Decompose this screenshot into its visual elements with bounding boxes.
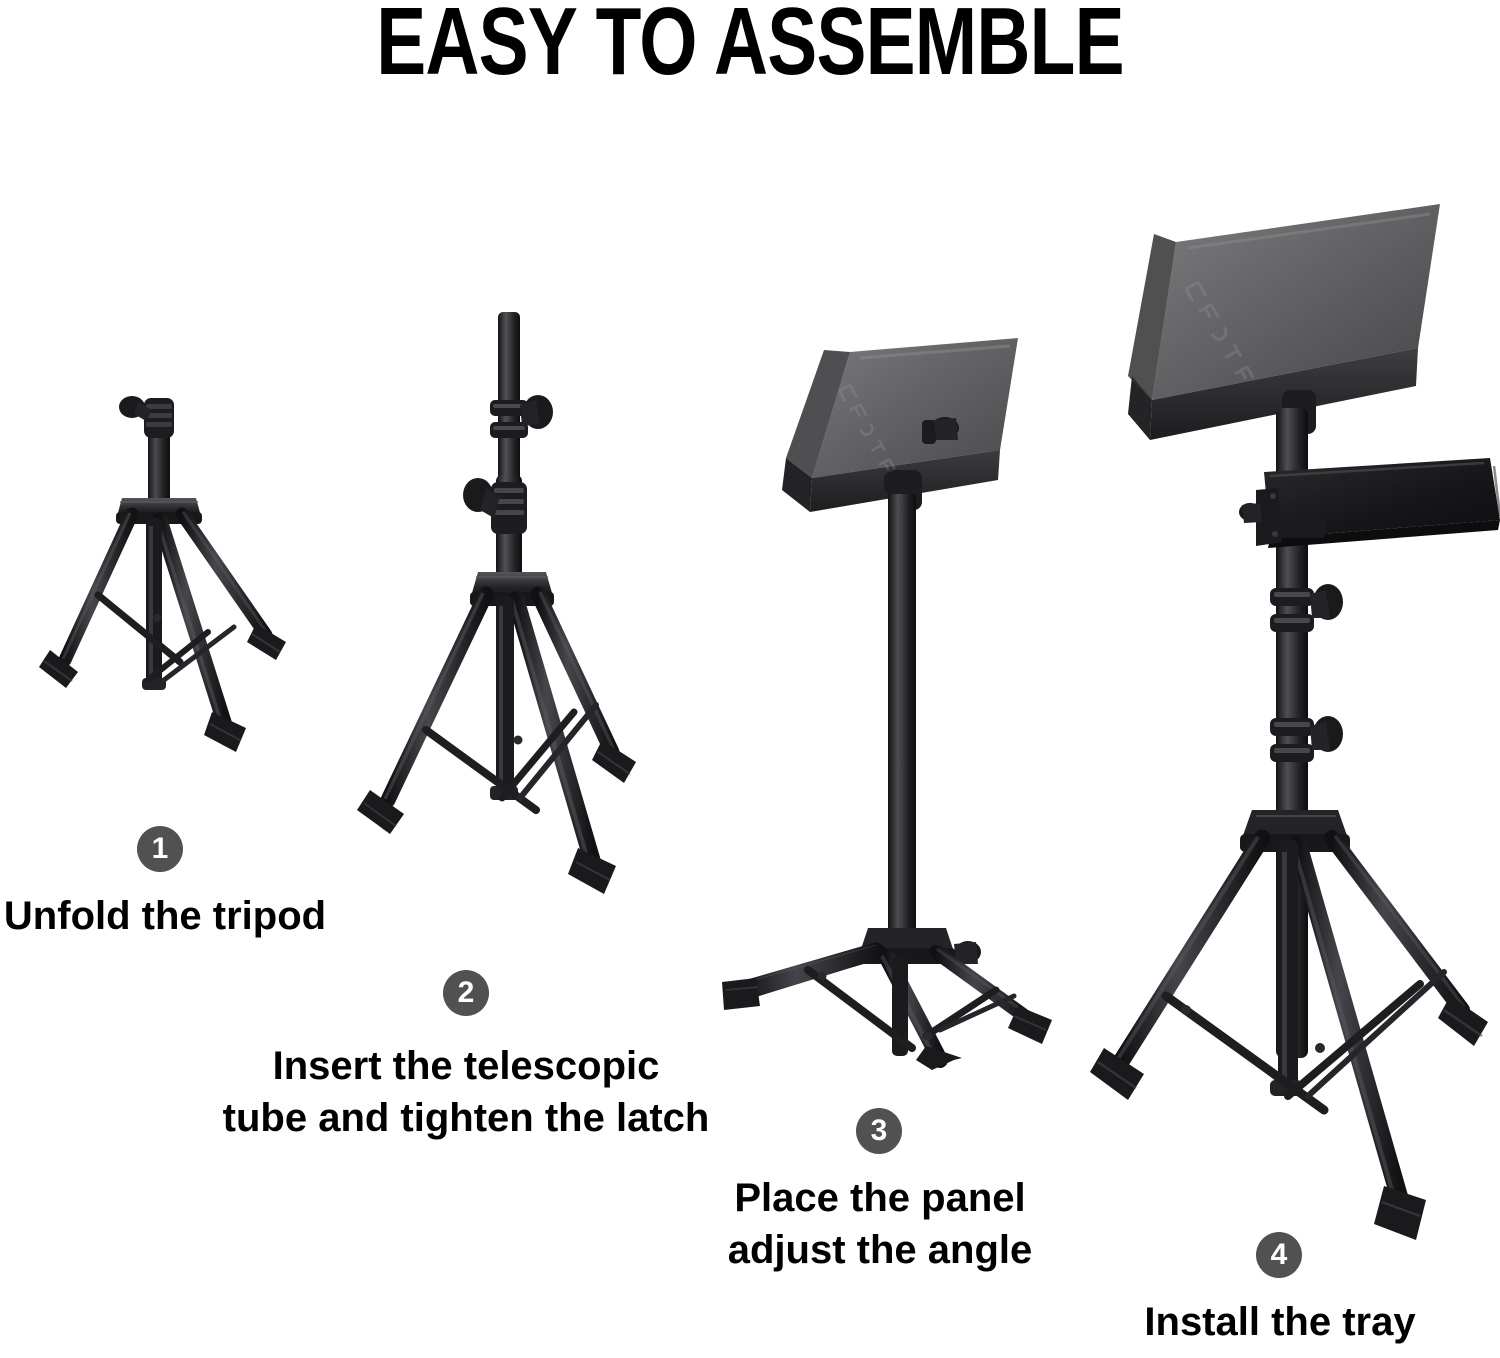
tripod-unfolded-illustration — [20, 380, 300, 800]
armrest-panel-illustration — [700, 330, 1080, 1070]
tripod-legs — [63, 512, 267, 725]
step-1-badge: 1 — [137, 826, 183, 872]
tripod-legs — [1118, 836, 1465, 1200]
step-4-badge: 4 — [1256, 1232, 1302, 1278]
telescopic-tube-illustration — [330, 300, 670, 940]
telescopic-upper-tube — [498, 312, 520, 487]
step-2-badge: 2 — [443, 970, 489, 1016]
step-4-caption: Install the tray — [1080, 1296, 1480, 1348]
center-tube — [884, 472, 920, 940]
accessory-tray — [1239, 458, 1500, 548]
step-1-caption: Unfold the tripod — [0, 890, 330, 942]
step-3-badge: 3 — [856, 1108, 902, 1154]
telescopic-lower-tube — [463, 475, 527, 585]
step-3-caption: Place the panel adjust the angle — [680, 1172, 1080, 1276]
step-2-caption: Insert the telescopic tube and tighten t… — [216, 1040, 716, 1144]
tray-illustration — [1070, 190, 1500, 1270]
tripod-legs — [738, 946, 1031, 1060]
page-title: EASY TO ASSEMBLE — [165, 0, 1335, 90]
center-column — [119, 396, 174, 508]
